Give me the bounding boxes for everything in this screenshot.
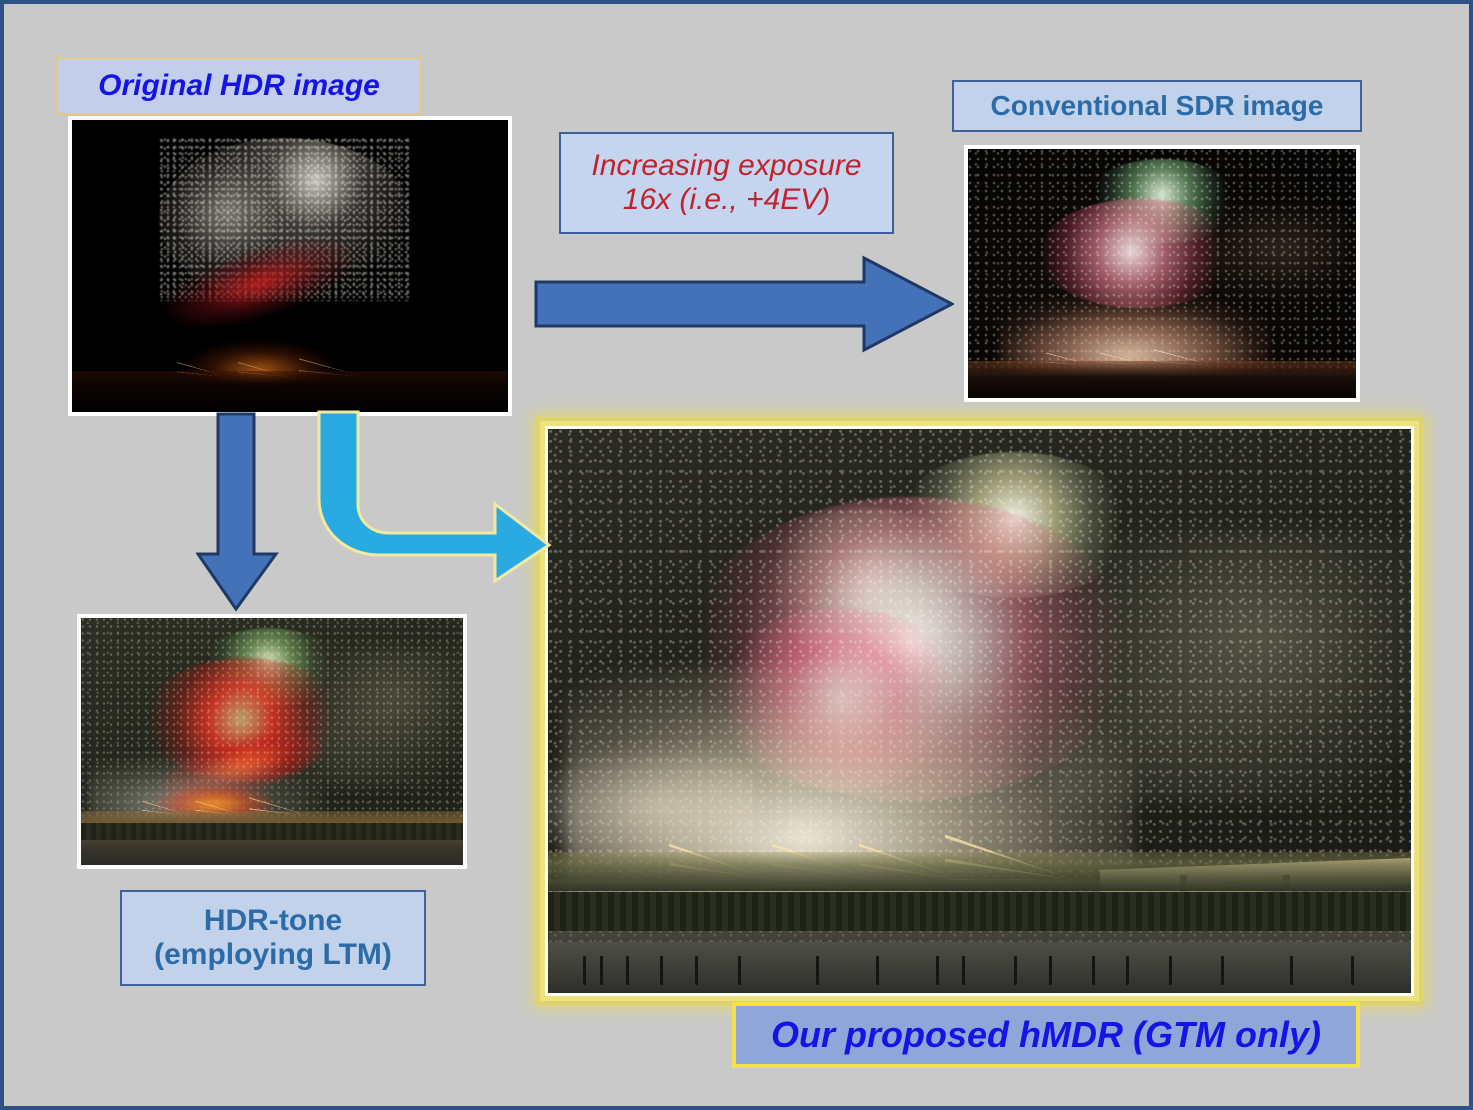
label-conventional-sdr-image: Conventional SDR image bbox=[952, 80, 1362, 132]
riverbank bbox=[968, 361, 1356, 398]
arrow-to-hdr-tone bbox=[196, 412, 286, 612]
photo-conventional-sdr bbox=[964, 145, 1360, 402]
photo-original-hdr-content bbox=[72, 120, 508, 412]
label-text: Increasing exposure 16x (i.e., +4EV) bbox=[591, 149, 861, 216]
photo-conventional-sdr-content bbox=[968, 149, 1356, 398]
ground-dark bbox=[72, 371, 508, 412]
label-increasing-exposure: Increasing exposure 16x (i.e., +4EV) bbox=[559, 132, 894, 234]
arrow-to-proposed-hmdr bbox=[309, 409, 554, 584]
firework-fan bbox=[249, 751, 371, 815]
treeline bbox=[81, 823, 463, 840]
label-text: Our proposed hMDR (GTM only) bbox=[771, 1015, 1321, 1055]
photo-original-hdr bbox=[68, 116, 512, 416]
crowd-silhouettes bbox=[548, 956, 1411, 984]
arrow-increasing-exposure bbox=[534, 254, 954, 354]
firework-fan bbox=[299, 298, 430, 377]
label-proposed-hmdr: Our proposed hMDR (GTM only) bbox=[732, 1002, 1360, 1068]
photo-hdr-tone bbox=[77, 614, 467, 869]
label-text: Conventional SDR image bbox=[991, 90, 1324, 121]
riverbank bbox=[548, 852, 1411, 891]
label-original-hdr-image: Original HDR image bbox=[56, 57, 422, 115]
firework-fan bbox=[1154, 296, 1278, 366]
photo-hdr-tone-content bbox=[81, 618, 463, 865]
label-text: HDR-tone (employing LTM) bbox=[154, 904, 392, 971]
slide-canvas: Original HDR image Increasing exposure 1… bbox=[0, 0, 1473, 1110]
label-text: Original HDR image bbox=[98, 69, 380, 103]
treeline bbox=[548, 892, 1411, 931]
photo-proposed-hmdr bbox=[545, 426, 1414, 996]
photo-proposed-hmdr-content bbox=[548, 429, 1411, 993]
label-hdr-tone: HDR-tone (employing LTM) bbox=[120, 890, 426, 986]
